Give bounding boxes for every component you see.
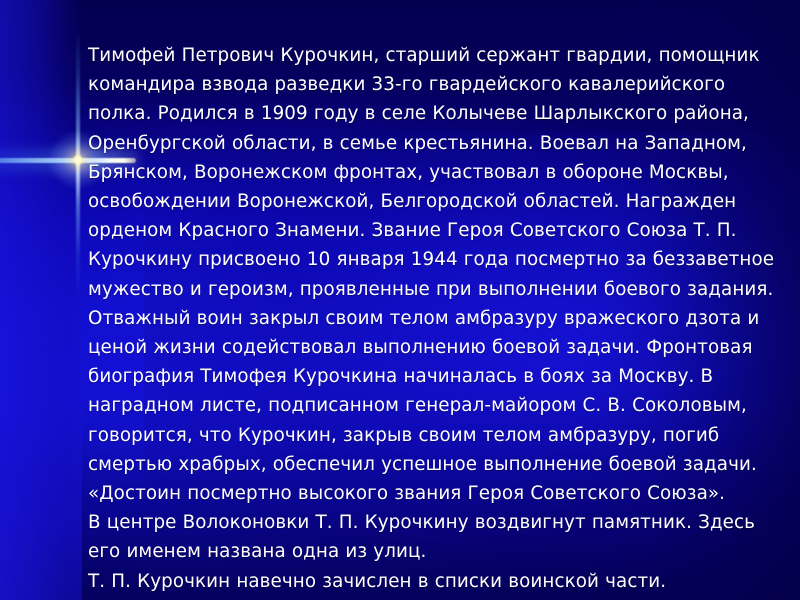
slide-paragraph-2: В центре Волоконовки Т. П. Курочкину воз… [88,508,778,566]
slide-paragraph-1: Тимофей Петрович Курочкин, старший сержа… [88,41,778,508]
slide-paragraph-3: Т. П. Курочкин навечно зачислен в списки… [88,567,778,596]
slide-text-body: Тимофей Петрович Курочкин, старший сержа… [88,41,778,596]
presentation-slide: Тимофей Петрович Курочкин, старший сержа… [0,0,800,600]
slide-background-left-band [0,0,82,600]
